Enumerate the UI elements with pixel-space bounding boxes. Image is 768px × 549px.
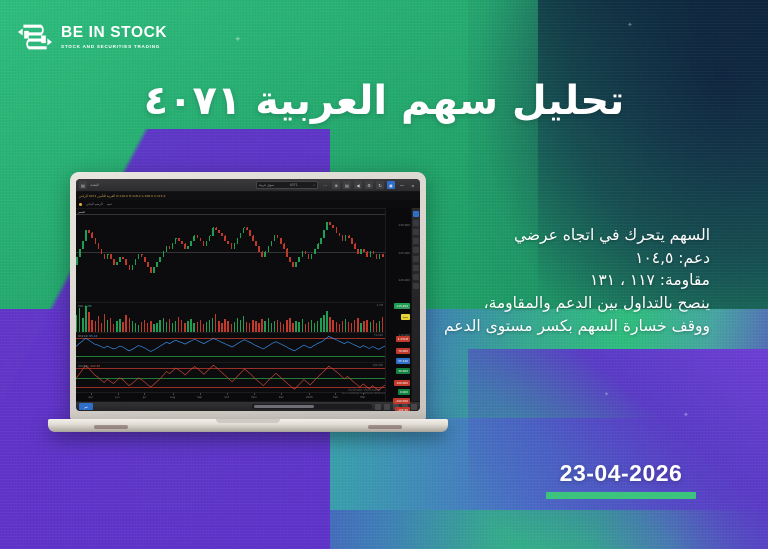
price-tick-label: 120.000: [398, 278, 410, 282]
candle: [147, 262, 149, 267]
analysis-line: مقاومة: ١١٧ ، ١٣١: [410, 269, 710, 292]
candle: [258, 246, 260, 251]
volume-bar: [258, 323, 259, 332]
time-tick-label: 2026: [306, 395, 313, 399]
candle: [125, 259, 127, 264]
rsi-pane-values: 70.000: [374, 334, 383, 337]
volume-bar: [153, 324, 154, 332]
volume-bar: [203, 324, 204, 332]
volume-bar: [116, 321, 117, 332]
candle: [88, 230, 90, 233]
candle: [200, 238, 202, 241]
candle: [187, 246, 189, 249]
candle: [326, 222, 328, 230]
app-toolbar: ▫ ― ● ↻ ⚙ ◀ ▤ ⊕ ⋯ ⌕ 4071 سوق عربية البحث: [76, 179, 420, 192]
app-status-bar: تم: [76, 401, 420, 411]
rsi-pane-title: RSI(14) 55.14: [78, 334, 97, 338]
candle: [360, 249, 362, 254]
user-icon[interactable]: ●: [387, 181, 395, 189]
candle: [82, 241, 84, 249]
candle: [178, 238, 180, 241]
candle: [271, 241, 273, 246]
volume-bar: [98, 316, 99, 332]
volume-bar: [193, 323, 194, 332]
rsi-value-badge: 55.140: [396, 358, 410, 364]
candle: [373, 252, 375, 255]
volume-bar: [363, 321, 364, 332]
globe-icon[interactable]: ⊕: [332, 181, 340, 189]
volume-bar: [231, 324, 232, 332]
candle: [246, 228, 248, 231]
candle: [357, 249, 359, 254]
time-tick-label: Jun: [116, 395, 120, 399]
volume-bar: [95, 321, 96, 332]
candle: [141, 254, 143, 257]
laptop-foot: [94, 425, 128, 429]
price-pane[interactable]: السعر: [76, 208, 385, 302]
cci-pane-title: CCI(14) -102.50: [78, 364, 100, 368]
candle: [255, 241, 257, 246]
more-icon[interactable]: ⋯: [321, 181, 329, 189]
price-pane-title: السعر: [78, 210, 85, 214]
analysis-line: دعم: ١٠٤,٥: [410, 247, 710, 270]
cursor-tool-icon[interactable]: [413, 211, 419, 217]
candle: [249, 230, 251, 235]
volume-bar: [289, 318, 290, 332]
volume-bar: [354, 320, 355, 332]
price-tick-label: 125.000: [398, 251, 410, 255]
candle: [104, 254, 106, 259]
volume-bar: [129, 318, 130, 332]
volume-bar: [357, 318, 358, 332]
laptop-base: [48, 419, 448, 432]
rsi-line-series: [76, 333, 385, 362]
price-gridline: [76, 252, 385, 253]
candle: [135, 259, 137, 264]
volume-bar: [169, 319, 170, 332]
candle: [184, 244, 186, 249]
volume-bar: [85, 306, 86, 332]
apply-button[interactable]: تم: [79, 403, 93, 410]
candle: [159, 257, 161, 262]
analysis-line: ينصح بالتداول بين الدعم والمقاومة،: [410, 292, 710, 315]
cci-label: CCI(14): [78, 364, 88, 368]
volume-bar: [311, 320, 312, 332]
volume-bar: [336, 322, 337, 332]
time-tick-label: Oct: [224, 395, 229, 399]
volume-bar: [345, 319, 346, 332]
cci-lower-badge: -100.000: [393, 398, 410, 404]
volume-bar: [342, 321, 343, 332]
candlestick-series: [76, 209, 385, 302]
candle: [107, 254, 109, 259]
volume-bar: [348, 322, 349, 332]
volume-value-badge: 1.231M: [396, 336, 410, 342]
candle: [76, 257, 78, 265]
alert-icon[interactable]: ◀: [354, 181, 362, 189]
volume-bar: [141, 322, 142, 332]
volume-pane-title: VOL 1.2M: [78, 304, 91, 308]
laptop-mockup: ▫ ― ● ↻ ⚙ ◀ ▤ ⊕ ⋯ ⌕ 4071 سوق عربية البحث: [48, 172, 448, 440]
candle: [370, 252, 372, 257]
legend-item: الرسم البياني: [86, 202, 103, 206]
rsi-value: 55.14: [89, 334, 97, 338]
background-purple-right: [468, 349, 768, 549]
candle: [274, 236, 276, 241]
candle: [163, 252, 165, 257]
volume-bar: [212, 318, 213, 332]
candle: [138, 254, 140, 259]
time-tick-label: Nov: [252, 395, 257, 399]
candle: [286, 249, 288, 257]
volume-axis-badge: جديد: [401, 314, 410, 320]
legend-item: تنبيه: [107, 202, 112, 206]
cci-pane[interactable]: CCI(14) -102.50 100.000: [76, 362, 385, 392]
candle: [209, 236, 211, 241]
volume-bar: [187, 321, 188, 332]
candle: [243, 228, 245, 233]
candle: [252, 236, 254, 241]
volume-bar: [178, 317, 179, 332]
candle: [129, 265, 131, 270]
candle: [289, 257, 291, 262]
analysis-line: السهم يتحرك في اتجاه عرضي: [410, 224, 710, 247]
candle: [113, 259, 115, 264]
search-label: البحث: [90, 183, 99, 187]
volume-bar: [104, 314, 105, 332]
candle: [261, 252, 263, 257]
volume-bar: [308, 322, 309, 332]
cci-line-series: [76, 363, 385, 392]
volume-bar: [261, 319, 262, 332]
cci-value-badge: -102.50: [395, 407, 410, 411]
save-icon[interactable]: [384, 404, 390, 410]
window-icon[interactable]: ▫: [409, 181, 417, 189]
time-tick-label: Feb: [333, 395, 338, 399]
layout-icon[interactable]: [375, 404, 381, 410]
rsi-label: RSI(14): [78, 334, 88, 338]
volume-bar: [110, 318, 111, 332]
menu-icon[interactable]: ▤: [79, 181, 87, 189]
laptop-foot: [368, 425, 402, 429]
volume-bar: [88, 312, 89, 332]
volume-bar: [320, 318, 321, 332]
volume-bar: [376, 323, 377, 332]
candle: [240, 233, 242, 238]
candle: [231, 244, 233, 249]
candle: [215, 228, 217, 231]
candle: [119, 257, 121, 262]
volume-bar: [332, 320, 333, 332]
volume-bar: [209, 320, 210, 332]
symbol-value: 4071: [290, 183, 298, 187]
volume-bar: [107, 320, 108, 332]
settings-icon[interactable]: ⚙: [365, 181, 373, 189]
candle: [169, 246, 171, 249]
volume-bar: [144, 320, 145, 332]
volume-bar: [268, 318, 269, 332]
chart-panes: السعر VOL 1.2M 2.0M: [76, 208, 385, 401]
candle: [379, 254, 381, 259]
candle: [181, 241, 183, 244]
minimize-icon[interactable]: ―: [398, 181, 406, 189]
candle: [110, 254, 112, 259]
volume-bar: [221, 323, 222, 332]
volume-bar: [314, 323, 315, 332]
volume-bar: [135, 323, 136, 332]
volume-bar: [175, 321, 176, 332]
rsi-pane[interactable]: RSI(14) 55.14 70.000: [76, 332, 385, 362]
candle: [98, 244, 100, 249]
cci-upper-badge: 100.000: [394, 380, 410, 386]
volume-bar: [240, 320, 241, 332]
volume-bar: [305, 324, 306, 332]
alert-bell-icon: [79, 203, 82, 206]
time-tick-label: Sep: [197, 395, 202, 399]
volume-bar: [317, 321, 318, 332]
candle: [280, 238, 282, 243]
candle: [351, 238, 353, 243]
candle: [95, 238, 97, 243]
candle: [354, 244, 356, 249]
volume-bar: [119, 319, 120, 332]
volume-bar: [181, 320, 182, 332]
cci-pane-values: 100.000: [372, 364, 383, 367]
candle: [234, 244, 236, 249]
volume-bar: [366, 320, 367, 332]
volume-bar: [274, 321, 275, 332]
candle: [144, 257, 146, 262]
candle: [314, 249, 316, 254]
volume-bar: [302, 319, 303, 332]
volume-bar: [323, 315, 324, 332]
volume-bar: [156, 323, 157, 332]
volume-bar: [215, 314, 216, 332]
date-underline-bar: [546, 492, 696, 499]
candle: [122, 257, 124, 260]
volume-pane-values: 2.0M: [377, 304, 383, 307]
candle: [218, 230, 220, 233]
volume-bar: [138, 325, 139, 332]
volume-bar: [243, 316, 244, 332]
laptop-screen: ▫ ― ● ↻ ⚙ ◀ ▤ ⊕ ⋯ ⌕ 4071 سوق عربية البحث: [76, 179, 420, 411]
volume-bar: [190, 319, 191, 332]
volume-bar: [200, 320, 201, 332]
volume-bar: [292, 323, 293, 332]
candle: [317, 244, 319, 249]
time-axis: AprJunJulAugSepOctNovDec2026FebMar: [76, 392, 385, 401]
candle: [268, 246, 270, 251]
be-in-stock-arrows-logo-icon: [18, 20, 52, 54]
chart-region: السعر VOL 1.2M 2.0M: [76, 208, 420, 401]
cci-value: -102.50: [89, 364, 100, 368]
volume-pane[interactable]: VOL 1.2M 2.0M: [76, 302, 385, 332]
volume-bar: [264, 321, 265, 332]
volume-bar: [271, 323, 272, 332]
candle: [305, 252, 307, 255]
candle: [212, 228, 214, 236]
volume-bar: [184, 323, 185, 332]
volume-bar: [360, 323, 361, 332]
volume-bar: [218, 321, 219, 332]
time-tick-label: Apr: [88, 395, 93, 399]
market-label: سوق عربية: [259, 183, 274, 187]
volume-label: VOL: [78, 304, 84, 308]
candle: [332, 225, 334, 228]
poster-canvas: ✦ ✦ ✦ ✦ BE IN STOCK STOCK AND SECURITIES…: [0, 0, 768, 549]
price-axis[interactable]: 115.200130.000125.000120.000115.000110.0…: [385, 208, 411, 401]
candle: [339, 233, 341, 236]
candle: [221, 233, 223, 236]
volume-bar: [237, 318, 238, 332]
candle: [345, 236, 347, 241]
chart-legend-row: الرسم البياني تنبيه: [76, 200, 420, 208]
volume-bar: [132, 321, 133, 332]
candle: [329, 222, 331, 225]
volume-bar: [283, 324, 284, 332]
volume-bar: [172, 323, 173, 332]
volume-bar: [101, 323, 102, 332]
volume-bar: [76, 315, 77, 332]
volume-bar: [277, 320, 278, 332]
candle: [79, 249, 81, 257]
price-tick-label: 130.000: [398, 223, 410, 227]
candle: [320, 238, 322, 243]
candle: [295, 262, 297, 267]
volume-bar: [373, 320, 374, 332]
printer-icon[interactable]: ▤: [343, 181, 351, 189]
page-title: تحليل سهم العربية ٤٠٧١: [0, 78, 768, 124]
candle: [153, 267, 155, 272]
candle: [277, 236, 279, 239]
candle: [175, 238, 177, 243]
volume-value: 1.2M: [85, 304, 92, 308]
candle: [292, 262, 294, 267]
date-value: 23-04-2026: [546, 460, 696, 487]
volume-bar-series: [76, 303, 385, 332]
search-icon: ⌕: [313, 183, 315, 187]
brand-tagline: STOCK AND SECURITIES TRADING: [61, 44, 167, 49]
zoom-out-icon[interactable]: [411, 404, 417, 410]
price-gridline: [76, 214, 385, 215]
candle: [116, 262, 118, 265]
volume-bar: [122, 322, 123, 332]
horizontal-scrollbar[interactable]: [252, 404, 372, 409]
candle: [382, 254, 384, 257]
candle: [85, 230, 87, 241]
volume-bar: [91, 320, 92, 332]
volume-bar: [379, 321, 380, 332]
time-tick-label: Jul: [143, 395, 146, 399]
volume-bar: [326, 311, 327, 332]
volume-bar: [298, 322, 299, 332]
candle: [224, 236, 226, 241]
rsi-lower-badge: 30.000: [396, 368, 410, 374]
volume-bar: [370, 322, 371, 332]
volume-bar: [234, 322, 235, 332]
volume-bar: [227, 321, 228, 332]
candle: [156, 262, 158, 267]
candle: [363, 249, 365, 252]
brand-logo: BE IN STOCK STOCK AND SECURITIES TRADING: [18, 20, 167, 54]
candle: [311, 254, 313, 259]
volume-bar: [246, 322, 247, 332]
volume-bar: [206, 322, 207, 332]
symbol-search-input[interactable]: ⌕ 4071 سوق عربية: [256, 181, 318, 189]
candle: [190, 241, 192, 246]
candle: [101, 249, 103, 254]
volume-bar: [329, 317, 330, 332]
candle: [166, 246, 168, 251]
time-tick-label: Aug: [170, 395, 175, 399]
candle: [298, 257, 300, 262]
candle: [376, 254, 378, 259]
candle: [302, 252, 304, 257]
volume-bar: [82, 318, 83, 332]
candle: [150, 267, 152, 272]
candle: [264, 252, 266, 257]
volume-bar: [339, 324, 340, 332]
candle: [366, 252, 368, 257]
volume-bar: [113, 324, 114, 332]
volume-bar: [255, 321, 256, 332]
analysis-text-block: السهم يتحرك في اتجاه عرضي دعم: ١٠٤,٥ مقا…: [410, 224, 710, 337]
candle: [237, 238, 239, 243]
candle: [91, 233, 93, 238]
volume-bar: [280, 322, 281, 332]
candle: [323, 230, 325, 238]
candle: [132, 265, 134, 270]
volume-bar: [150, 321, 151, 332]
candle: [342, 236, 344, 241]
laptop-lid: ▫ ― ● ↻ ⚙ ◀ ▤ ⊕ ⋯ ⌕ 4071 سوق عربية البحث: [70, 172, 426, 420]
candle: [227, 241, 229, 244]
volume-bar: [286, 320, 287, 332]
candle: [206, 241, 208, 246]
volume-bar: [79, 308, 80, 332]
price-tick-label: 115.000: [398, 306, 410, 310]
volume-bar: [382, 317, 383, 332]
time-tick-label: Dec: [279, 395, 284, 399]
analysis-line: ووقف خسارة السهم بكسر مستوى الدعم: [410, 315, 710, 338]
candle: [336, 228, 338, 233]
refresh-icon[interactable]: ↻: [376, 181, 384, 189]
volume-bar: [249, 323, 250, 332]
volume-bar: [295, 321, 296, 332]
cci-zero-badge: 0.000: [398, 389, 410, 395]
volume-bar: [197, 322, 198, 332]
volume-bar: [125, 315, 126, 332]
time-tick-label: Mar: [360, 395, 365, 399]
candle: [172, 244, 174, 249]
volume-bar: [166, 322, 167, 332]
volume-bar: [351, 323, 352, 332]
brand-name: BE IN STOCK: [61, 25, 167, 41]
volume-bar: [224, 319, 225, 332]
candle: [197, 236, 199, 239]
rsi-upper-badge: 70.000: [396, 348, 410, 354]
candle: [193, 236, 195, 241]
candle: [203, 241, 205, 246]
volume-bar: [252, 320, 253, 332]
date-block: 23-04-2026: [546, 460, 696, 499]
volume-bar: [159, 320, 160, 332]
candle: [348, 236, 350, 239]
symbol-info-bar: العربية للتأمين 4071 الرياض O:116.0 H:11…: [76, 192, 420, 200]
candle: [283, 244, 285, 249]
volume-bar: [163, 318, 164, 332]
volume-bar: [147, 323, 148, 332]
